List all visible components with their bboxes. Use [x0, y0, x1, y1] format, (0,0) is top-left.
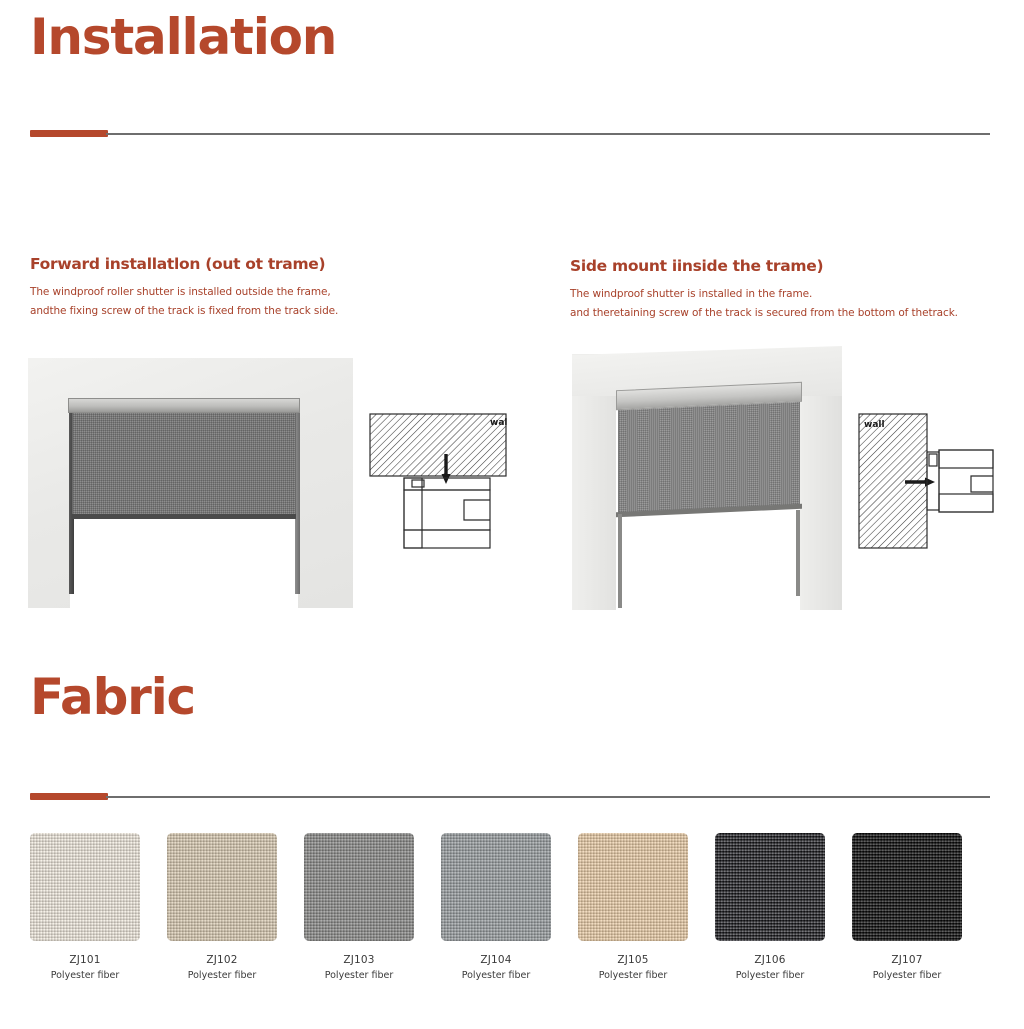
- fabric-swatch-code: ZJ101: [69, 954, 100, 966]
- divider-accent-bar: [30, 793, 108, 800]
- fabric-swatch-code: ZJ103: [343, 954, 374, 966]
- guide-rail-left: [618, 514, 622, 608]
- fabric-swatch-code: ZJ106: [754, 954, 785, 966]
- diagram-wall-label-text: wall: [490, 418, 508, 428]
- fabric-swatch-zj103[interactable]: ZJ103Polyester fiber: [304, 833, 414, 1003]
- fabric-swatch-material: Polyester fiber: [736, 970, 805, 981]
- fabric-swatch-material: Polyester fiber: [325, 970, 394, 981]
- shutter-bottom-bar: [72, 514, 296, 519]
- fabric-swatch-material: Polyester fiber: [462, 970, 531, 981]
- diagram-forward-installation: wall: [368, 408, 508, 550]
- fabric-swatch-chip[interactable]: [441, 833, 551, 941]
- page-title-installation: Installation: [30, 8, 336, 66]
- fabric-swatch-code: ZJ102: [206, 954, 237, 966]
- fabric-swatch-code: ZJ105: [617, 954, 648, 966]
- install-description-forward-line1: The windproof roller shutter is installe…: [30, 283, 530, 302]
- fabric-swatch-code: ZJ107: [891, 954, 922, 966]
- fabric-swatch-chip[interactable]: [852, 833, 962, 941]
- fabric-swatch-chip[interactable]: [167, 833, 277, 941]
- install-column-sidemount: Side mount iinside the trame) The windpr…: [570, 257, 1010, 324]
- guide-rail-right: [796, 510, 800, 596]
- divider-installation: [30, 130, 990, 138]
- fabric-swatch-chip[interactable]: [578, 833, 688, 941]
- fabric-swatch-chip[interactable]: [715, 833, 825, 941]
- wall-surface-perspective: [568, 338, 846, 610]
- divider-fabric: [30, 793, 990, 801]
- install-description-sidemount-line2: and theretaining screw of the track is s…: [570, 304, 1010, 323]
- diagram-wall-label-text: wall: [864, 420, 885, 430]
- divider-accent-bar: [30, 130, 108, 137]
- fabric-swatch-chip[interactable]: [30, 833, 140, 941]
- shutter-mesh-screen: [72, 412, 296, 516]
- install-description-forward-line2: andthe fixing screw of the track is fixe…: [30, 302, 530, 321]
- diagram-sidemount-installation: wall: [855, 408, 997, 554]
- photo-forward-installation: [28, 358, 353, 608]
- fabric-swatch-zj101[interactable]: ZJ101Polyester fiber: [30, 833, 140, 1003]
- install-heading-forward: Forward installatlon (out ot trame): [30, 255, 530, 273]
- divider-rule: [106, 796, 990, 798]
- fabric-swatch-zj105[interactable]: ZJ105Polyester fiber: [578, 833, 688, 1003]
- fabric-swatch-material: Polyester fiber: [188, 970, 257, 981]
- shutter-mesh-screen: [618, 402, 800, 514]
- fabric-swatch-material: Polyester fiber: [599, 970, 668, 981]
- divider-rule: [106, 133, 990, 135]
- fabric-swatch-zj107[interactable]: ZJ107Polyester fiber: [852, 833, 962, 1003]
- fabric-swatch-zj102[interactable]: ZJ102Polyester fiber: [167, 833, 277, 1003]
- fabric-swatch-zj104[interactable]: ZJ104Polyester fiber: [441, 833, 551, 1003]
- fabric-swatch-zj106[interactable]: ZJ106Polyester fiber: [715, 833, 825, 1003]
- frame-jamb-right: [800, 378, 842, 610]
- install-heading-sidemount: Side mount iinside the trame): [570, 257, 1010, 275]
- install-column-forward: Forward installatlon (out ot trame) The …: [30, 255, 530, 322]
- fabric-swatch-code: ZJ104: [480, 954, 511, 966]
- install-description-sidemount-line1: The windproof shutter is installed in th…: [570, 285, 1010, 304]
- shutter-headbox: [68, 398, 300, 413]
- fabric-swatch-material: Polyester fiber: [873, 970, 942, 981]
- install-description-forward: The windproof roller shutter is installe…: [30, 283, 530, 322]
- page-title-fabric: Fabric: [30, 668, 195, 726]
- install-description-sidemount: The windproof shutter is installed in th…: [570, 285, 1010, 324]
- photo-sidemount-installation: [568, 338, 846, 610]
- fabric-swatch-grid: ZJ101Polyester fiberZJ102Polyester fiber…: [30, 833, 994, 1003]
- fabric-swatch-material: Polyester fiber: [51, 970, 120, 981]
- fabric-swatch-chip[interactable]: [304, 833, 414, 941]
